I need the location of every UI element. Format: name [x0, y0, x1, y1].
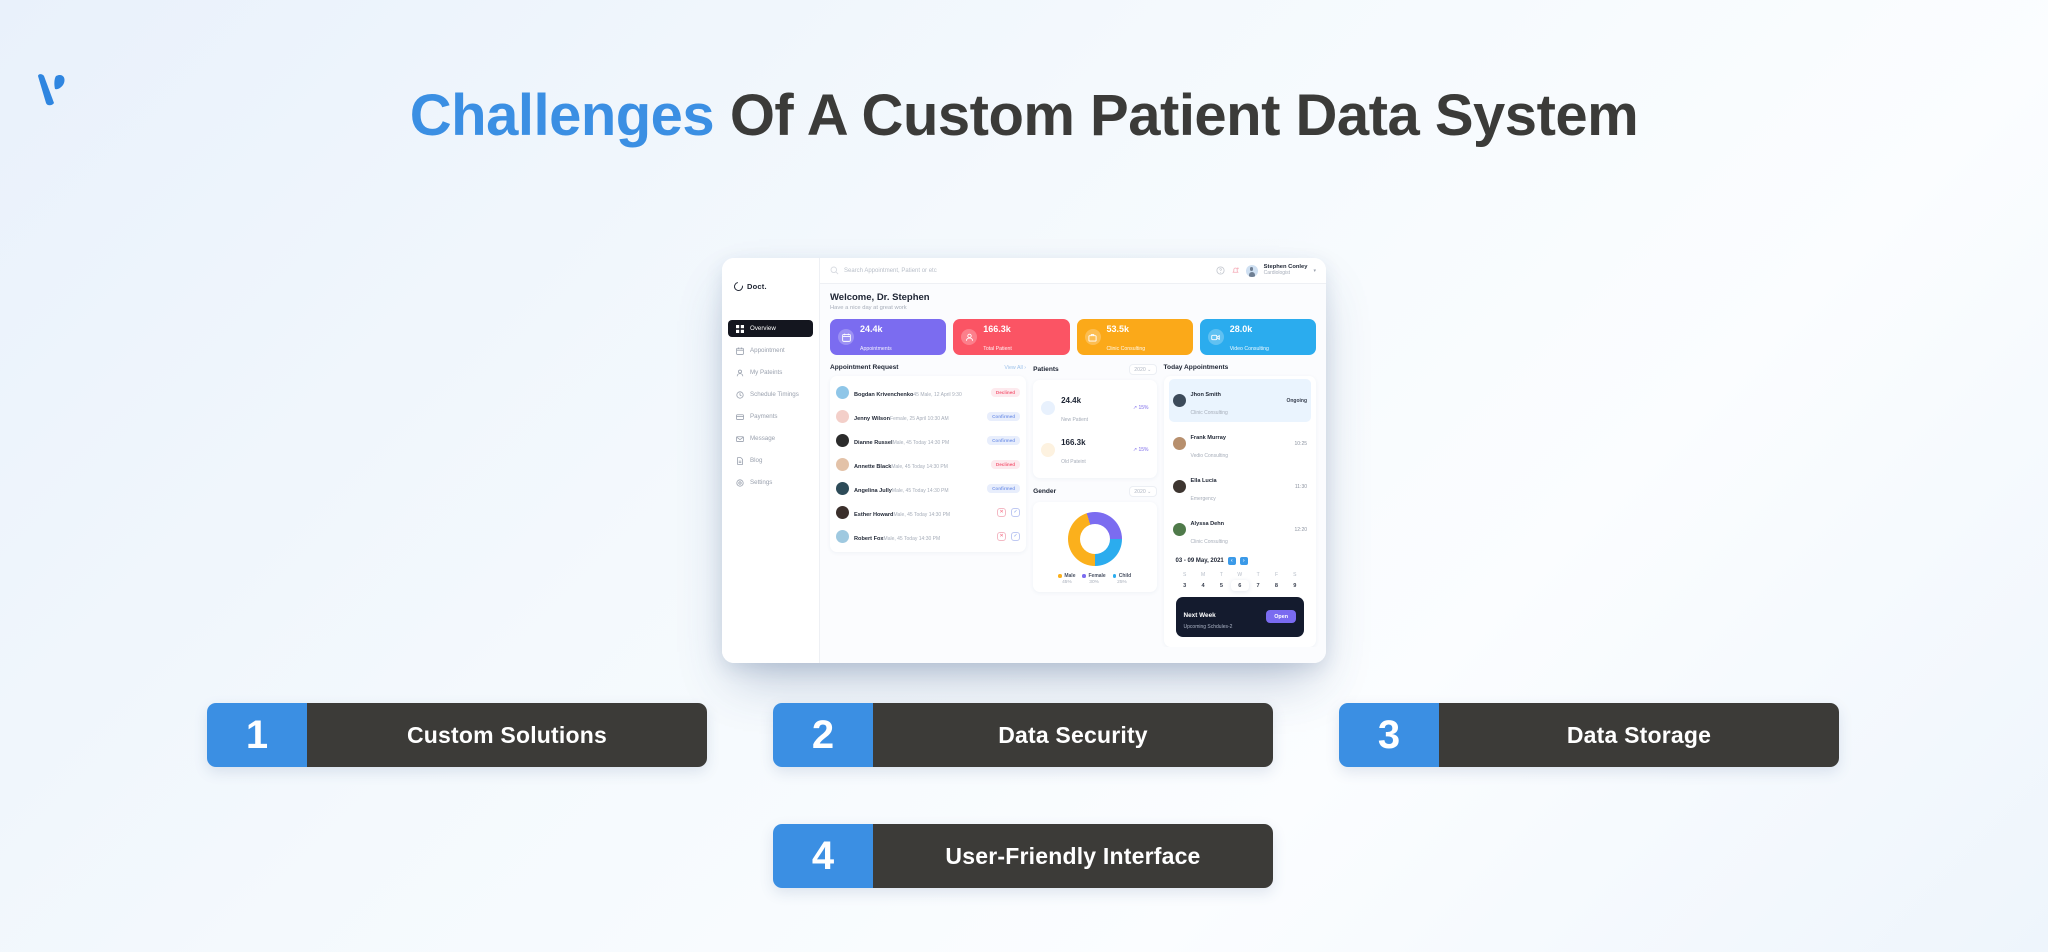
patient-meta: Male, 45 Today 14:30 PM	[892, 488, 949, 494]
appointment-time: 10:25	[1295, 441, 1308, 447]
year-select[interactable]: 2020 ⌄	[1129, 364, 1156, 375]
legend-dot	[1113, 574, 1117, 578]
legend-value: 30%	[1082, 580, 1105, 585]
legend-label: Male	[1064, 573, 1075, 579]
stat-card-appointments[interactable]: 24.4kAppointments	[830, 319, 946, 355]
panel-header: Gender 2020 ⌄	[1033, 486, 1156, 497]
stat-value: 28.0k	[1230, 324, 1253, 334]
patient-meta: Female, 25 April 10:30 AM	[890, 416, 949, 422]
list-item: 24.4kNew Patient ↗ 15%	[1041, 387, 1148, 429]
user-icon	[1041, 443, 1055, 457]
legend-label: Child	[1119, 573, 1132, 579]
sidebar-item-payments[interactable]: Payments	[728, 408, 813, 425]
dashboard-main: Search Appointment, Patient or etc Steph…	[820, 258, 1326, 663]
appointment-type: Clinic Consulting	[1191, 539, 1228, 545]
list-item[interactable]: Jhon SmithClinic Consulting Ongoing	[1169, 379, 1312, 422]
list-item[interactable]: Frank MurrayVedio Consulting 10:25	[1169, 422, 1312, 465]
accept-button[interactable]: ✓	[1011, 508, 1020, 517]
user-icon	[736, 369, 744, 377]
legend-item: Male 45%	[1058, 573, 1075, 585]
table-row[interactable]: Dianne RusselMale, 45 Today 14:30 PM Con…	[836, 428, 1020, 452]
status-badge: Declined	[991, 460, 1020, 469]
bell-icon[interactable]	[1231, 266, 1240, 275]
stat-label: Total Patient	[983, 346, 1012, 352]
video-icon	[1208, 329, 1224, 345]
calendar-widget: 03 - 09 May, 2021 ‹ › S M T W T F	[1169, 551, 1312, 644]
card-number: 3	[1339, 703, 1439, 767]
numbered-card-4[interactable]: 4 User-Friendly Interface	[773, 824, 1273, 888]
appointment-time: 11:30	[1295, 484, 1307, 490]
patient-name: Bogdan Krivenchenko	[854, 392, 913, 398]
dashboard-content: Welcome, Dr. Stephen Have a nice day at …	[820, 284, 1326, 647]
sidebar-item-label: Overview	[750, 325, 776, 332]
gear-icon	[736, 479, 744, 487]
calendar-header: 03 - 09 May, 2021 ‹ ›	[1176, 557, 1305, 565]
appointment-type: Emergency	[1191, 496, 1216, 502]
calendar-day-selected[interactable]: 6	[1231, 580, 1249, 591]
avatar[interactable]	[1246, 265, 1258, 277]
page-title-rest: Of A Custom Patient Data System	[714, 83, 1638, 148]
calendar-range: 03 - 09 May, 2021	[1176, 558, 1224, 564]
appointment-name: Ella Lucia	[1191, 478, 1217, 484]
patient-name: Robert Fox	[854, 536, 884, 542]
stat-label: Appointments	[860, 346, 892, 352]
appointment-type: Vedio Consulting	[1191, 453, 1229, 459]
calendar-dow: T	[1249, 570, 1267, 580]
panel-title: Patients	[1033, 366, 1059, 373]
appointment-request-panel: Appointment Request View All › Bogdan Kr…	[830, 364, 1026, 647]
stat-value: 24.4k	[860, 324, 883, 334]
table-row[interactable]: Bogdan Krivenchenko45 Male, 12 April 9:3…	[836, 380, 1020, 404]
patient-meta: Male, 45 Today 14:30 PM	[884, 536, 941, 542]
avatar	[836, 506, 849, 519]
patient-label: Old Pateint	[1061, 459, 1086, 465]
legend-dot	[1082, 574, 1086, 578]
stat-label: Clinic Consulting	[1107, 346, 1146, 352]
sidebar-item-appointment[interactable]: Appointment	[728, 342, 813, 359]
delta-badge: ↗ 15%	[1133, 447, 1149, 453]
search-input[interactable]: Search Appointment, Patient or etc	[830, 266, 1210, 275]
table-row[interactable]: Annette BlackMale, 45 Today 14:30 PM Dec…	[836, 452, 1020, 476]
patient-label: New Patient	[1061, 417, 1088, 423]
today-appointments-panel: Today Appointments Jhon SmithClinic Cons…	[1164, 364, 1317, 647]
file-icon	[736, 457, 744, 465]
mail-icon	[736, 435, 744, 443]
appointment-request-list: Bogdan Krivenchenko45 Male, 12 April 9:3…	[830, 376, 1026, 552]
numbered-card-2[interactable]: 2 Data Security	[773, 703, 1273, 767]
sidebar-item-label: Message	[750, 435, 775, 442]
bag-icon	[1085, 329, 1101, 345]
chart-legend: Male 45% Female 30% Child 25%	[1039, 573, 1150, 585]
page-title: Challenges Of A Custom Patient Data Syst…	[0, 82, 2048, 150]
next-week-subtitle: Upcoming Schdules-2	[1184, 624, 1233, 630]
calendar-icon	[838, 329, 854, 345]
stat-cards: 24.4kAppointments 166.3kTotal Patient 53…	[830, 319, 1316, 355]
sidebar-item-my-pateints[interactable]: My Pateints	[728, 364, 813, 381]
appointment-time: Ongoing	[1286, 398, 1307, 404]
legend-item: Female 30%	[1082, 573, 1105, 585]
calendar-grid: S M T W T F S 3 4 5 6 7	[1176, 570, 1305, 591]
stat-card-video-consulting[interactable]: 28.0kVideo Consulting	[1200, 319, 1316, 355]
calendar-day[interactable]: 7	[1249, 580, 1267, 591]
panel-title: Gender	[1033, 488, 1056, 495]
avatar	[836, 482, 849, 495]
sidebar-nav: Overview Appointment My Pateints Schedul…	[722, 320, 819, 491]
patient-count: 24.4k	[1061, 396, 1081, 405]
user-info: Stephen Conley Cardiologist	[1264, 264, 1308, 276]
sidebar-item-label: Settings	[750, 479, 772, 486]
card-label: Data Storage	[1439, 703, 1839, 767]
delta-badge: ↗ 15%	[1133, 405, 1149, 411]
sidebar-item-schedule-timings[interactable]: Schedule Timings	[728, 386, 813, 403]
dashboard-brand: Doct.	[722, 272, 819, 298]
card-label: User-Friendly Interface	[873, 824, 1273, 888]
card-number: 4	[773, 824, 873, 888]
help-circle-icon[interactable]	[1216, 266, 1225, 275]
appointment-time: 12:20	[1295, 527, 1308, 533]
panel-title: Today Appointments	[1164, 364, 1229, 371]
calendar-dow: T	[1212, 570, 1230, 580]
decline-button[interactable]: ✕	[997, 532, 1006, 541]
patients-card: 24.4kNew Patient ↗ 15% 166.3kOld Pateint…	[1033, 380, 1156, 478]
patient-meta: 45 Male, 12 April 9:30	[913, 392, 961, 398]
search-placeholder: Search Appointment, Patient or etc	[844, 268, 937, 274]
calendar-dow: M	[1194, 570, 1212, 580]
calendar-day[interactable]: 8	[1267, 580, 1285, 591]
doct-logo-icon	[732, 280, 745, 293]
status-badge: Declined	[991, 388, 1020, 397]
card-label: Data Security	[873, 703, 1273, 767]
gender-donut-chart	[1068, 512, 1122, 566]
sidebar-item-message[interactable]: Message	[728, 430, 813, 447]
year-select[interactable]: 2020 ⌄	[1129, 486, 1156, 497]
next-week-title: Next Week	[1184, 612, 1216, 619]
calendar-next-button[interactable]: ›	[1240, 557, 1248, 565]
today-appointments-list: Jhon SmithClinic Consulting Ongoing Fran…	[1164, 376, 1317, 647]
sidebar-item-label: Appointment	[750, 347, 785, 354]
sidebar-item-label: My Pateints	[750, 369, 782, 376]
sidebar-item-blog[interactable]: Blog	[728, 452, 813, 469]
card-icon	[736, 413, 744, 421]
user-icon	[1041, 401, 1055, 415]
calendar-prev-button[interactable]: ‹	[1228, 557, 1236, 565]
panel-header: Today Appointments	[1164, 364, 1317, 371]
clock-icon	[736, 391, 744, 399]
card-number: 1	[207, 703, 307, 767]
numbered-card-3[interactable]: 3 Data Storage	[1339, 703, 1839, 767]
dashboard-panels: Appointment Request View All › Bogdan Kr…	[830, 364, 1316, 647]
panel-title: Appointment Request	[830, 364, 899, 371]
dashboard-sidebar: Doct. Overview Appointment My Pateints S…	[722, 258, 820, 663]
chevron-down-icon[interactable]: ▾	[1313, 268, 1316, 274]
calendar-day[interactable]: 9	[1286, 580, 1304, 591]
patient-name: Jenny Wilson	[854, 416, 890, 422]
calendar-dow: S	[1176, 570, 1194, 580]
panel-header: Patients 2020 ⌄	[1033, 364, 1156, 375]
legend-value: 25%	[1113, 580, 1132, 585]
avatar	[1173, 523, 1186, 536]
stat-value: 166.3k	[983, 324, 1011, 334]
numbered-card-1[interactable]: 1 Custom Solutions	[207, 703, 707, 767]
appointment-name: Frank Murray	[1191, 435, 1226, 441]
patient-meta: Male, 45 Today 14:30 PM	[893, 440, 950, 446]
patient-count: 166.3k	[1061, 438, 1085, 447]
avatar	[836, 410, 849, 423]
card-number: 2	[773, 703, 873, 767]
status-badge: Confirmed	[987, 436, 1020, 445]
appointment-type: Clinic Consulting	[1191, 410, 1228, 416]
table-row[interactable]: Robert FoxMale, 45 Today 14:30 PM ✕ ✓	[836, 524, 1020, 548]
calendar-day[interactable]: 3	[1176, 580, 1194, 591]
page-title-accent: Challenges	[410, 83, 714, 148]
dashboard-topbar: Search Appointment, Patient or etc Steph…	[820, 258, 1326, 284]
accept-button[interactable]: ✓	[1011, 532, 1020, 541]
sidebar-item-settings[interactable]: Settings	[728, 474, 813, 491]
open-button[interactable]: Open	[1266, 610, 1296, 623]
dashboard-brand-name: Doct.	[747, 282, 767, 291]
calendar-dow: W	[1231, 570, 1249, 580]
list-item[interactable]: Ella LuciaEmergency 11:30	[1169, 465, 1312, 508]
search-icon	[830, 266, 839, 275]
table-row[interactable]: Esther HowardMale, 45 Today 14:30 PM ✕ ✓	[836, 500, 1020, 524]
avatar	[1173, 437, 1186, 450]
panel-header: Appointment Request View All ›	[830, 364, 1026, 371]
stat-card-clinic-consulting[interactable]: 53.5kClinic Consulting	[1077, 319, 1193, 355]
patient-name: Dianne Russel	[854, 440, 893, 446]
card-label: Custom Solutions	[307, 703, 707, 767]
decline-button[interactable]: ✕	[997, 508, 1006, 517]
view-all-link[interactable]: View All ›	[1004, 365, 1026, 371]
avatar	[836, 530, 849, 543]
user-icon	[961, 329, 977, 345]
calendar-day[interactable]: 5	[1212, 580, 1230, 591]
patient-name: Annette Black	[854, 464, 891, 470]
avatar	[836, 458, 849, 471]
calendar-dow: F	[1267, 570, 1285, 580]
sidebar-item-label: Schedule Timings	[750, 391, 799, 398]
legend-dot	[1058, 574, 1062, 578]
gender-chart-card: Male 45% Female 30% Child 25%	[1033, 502, 1156, 592]
patient-name: Esther Howard	[854, 512, 893, 518]
sidebar-item-overview[interactable]: Overview	[728, 320, 813, 337]
legend-item: Child 25%	[1113, 573, 1132, 585]
stat-label: Video Consulting	[1230, 346, 1269, 352]
patient-name: Angelina Jully	[854, 488, 892, 494]
table-row[interactable]: Jenny WilsonFemale, 25 April 10:30 AM Co…	[836, 404, 1020, 428]
user-role: Cardiologist	[1264, 271, 1308, 277]
dashboard-mockup: Doct. Overview Appointment My Pateints S…	[722, 258, 1326, 663]
stat-card-total-patient[interactable]: 166.3kTotal Patient	[953, 319, 1069, 355]
appointment-name: Alyssa Dehn	[1191, 521, 1225, 527]
patients-gender-column: Patients 2020 ⌄ 24.4kNew Patient ↗ 15% 1…	[1033, 364, 1156, 647]
grid-icon	[736, 325, 744, 333]
welcome-subtitle: Have a nice day at great work	[830, 305, 1316, 311]
sidebar-item-label: Blog	[750, 457, 762, 464]
status-badge: Confirmed	[987, 484, 1020, 493]
patient-meta: Male, 45 Today 14:30 PM	[893, 512, 950, 518]
next-week-banner: Next Week Upcoming Schdules-2 Open	[1176, 597, 1305, 637]
list-item[interactable]: Alyssa DehnClinic Consulting 12:20	[1169, 508, 1312, 551]
appointment-name: Jhon Smith	[1191, 392, 1221, 398]
calendar-icon	[736, 347, 744, 355]
sidebar-item-label: Payments	[750, 413, 778, 420]
table-row[interactable]: Angelina JullyMale, 45 Today 14:30 PM Co…	[836, 476, 1020, 500]
calendar-dow: S	[1286, 570, 1304, 580]
avatar	[1173, 480, 1186, 493]
avatar	[1173, 394, 1186, 407]
list-item: 166.3kOld Pateint ↗ 15%	[1041, 429, 1148, 471]
legend-value: 45%	[1058, 580, 1075, 585]
welcome-title: Welcome, Dr. Stephen	[830, 292, 1316, 303]
status-badge: Confirmed	[987, 412, 1020, 421]
avatar	[836, 434, 849, 447]
avatar	[836, 386, 849, 399]
stat-value: 53.5k	[1107, 324, 1130, 334]
calendar-day[interactable]: 4	[1194, 580, 1212, 591]
legend-label: Female	[1088, 573, 1105, 579]
patient-meta: Male, 45 Today 14:30 PM	[891, 464, 948, 470]
